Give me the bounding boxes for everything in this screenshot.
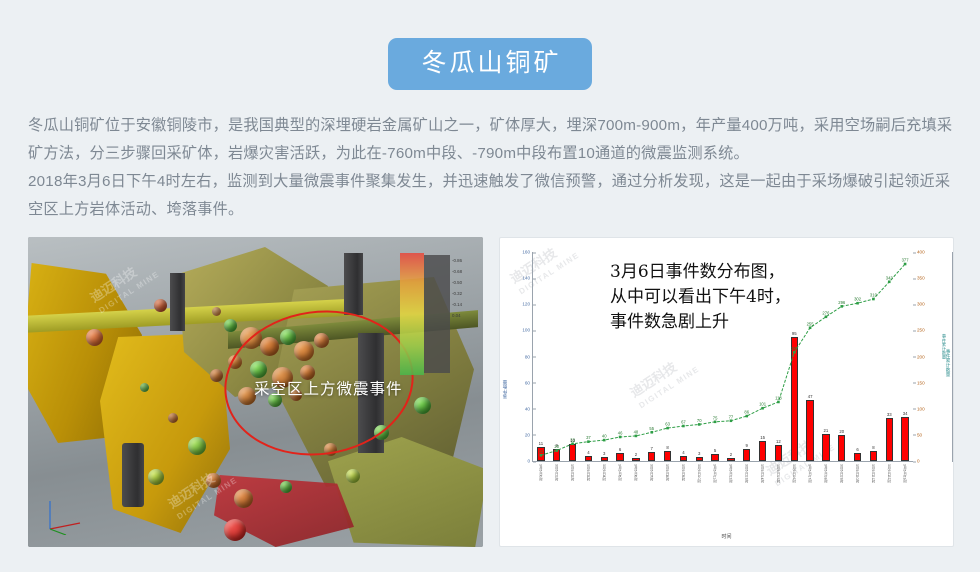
- x-axis-tick: 3月6日5时: [618, 464, 623, 481]
- x-axis-tick: 3月6日0时: [538, 464, 543, 481]
- y-axis-tick-right: 400: [913, 250, 925, 255]
- description-paragraph-2: 2018年3月6日下午4时左右，监测到大量微震事件聚集发生，并迅速触发了微信预警…: [28, 168, 954, 224]
- x-axis-tick: 3月6日12时: [728, 464, 733, 483]
- line-point: [698, 423, 701, 426]
- event-distribution-chart[interactable]: 迪迈科技 DIGITAL MINE 迪迈科技 DIGITAL MINE 迪迈科技…: [499, 237, 954, 547]
- event-sphere: [224, 319, 237, 332]
- page-header: 冬瓜山铜矿: [0, 0, 980, 90]
- line-point: [777, 401, 780, 404]
- line-point: [587, 440, 590, 443]
- line-point: [540, 454, 543, 457]
- x-axis-tick: 3月6日13时: [744, 464, 749, 483]
- x-axis-tick: 3月6日2时: [570, 464, 575, 481]
- chart-legend: 事件累计数量: [941, 334, 947, 359]
- line-point: [793, 351, 796, 354]
- line-point-label: 67: [681, 419, 686, 424]
- line-point: [872, 298, 875, 301]
- event-sphere: [206, 473, 221, 488]
- chart-annotation-line: 从中可以看出下午4时，: [610, 285, 791, 310]
- event-sphere: [154, 299, 167, 312]
- line-point: [619, 436, 622, 439]
- line-point-label: 343: [886, 275, 894, 280]
- line-point: [809, 326, 812, 329]
- line-point-label: 302: [854, 297, 862, 302]
- line-point-label: 11: [539, 449, 544, 454]
- y-axis-right-line: [952, 252, 953, 462]
- y-axis-tick-left: 140: [522, 276, 533, 281]
- y-axis-tick-left: 0: [527, 459, 533, 464]
- colorbar-tick: -0.32: [452, 288, 483, 299]
- line-point-label: 77: [729, 414, 734, 419]
- line-point-label: 377: [902, 258, 910, 263]
- y-axis-tick-right: 250: [913, 328, 925, 333]
- line-point-label: 20: [554, 444, 559, 449]
- line-point-label: 101: [759, 402, 767, 407]
- line-point-label: 63: [665, 422, 670, 427]
- event-sphere: [210, 369, 223, 382]
- y-axis-tick-left: 120: [522, 302, 533, 307]
- event-sphere: [280, 481, 292, 493]
- line-point: [761, 407, 764, 410]
- shaft-pillar-icon: [344, 253, 363, 315]
- chart-canvas: 迪迈科技 DIGITAL MINE 迪迈科技 DIGITAL MINE 迪迈科技…: [500, 238, 953, 546]
- line-point: [825, 315, 828, 318]
- x-axis-tick: 3月6日14时: [760, 464, 765, 483]
- event-sphere: [414, 397, 431, 414]
- line-point: [730, 419, 733, 422]
- line-point-label: 86: [744, 410, 749, 415]
- x-axis-tick: 3月6日10时: [697, 464, 702, 483]
- y-axis-tick-right: 100: [913, 406, 925, 411]
- x-axis-tick: 3月6日4时: [602, 464, 607, 481]
- line-point: [650, 431, 653, 434]
- x-axis-tick: 3月6日23时: [903, 464, 908, 483]
- line-point-label: 48: [634, 429, 639, 434]
- y-axis-tick-left: 100: [522, 328, 533, 333]
- x-axis-tick: 3月6日6时: [633, 464, 638, 481]
- x-axis-tick: 3月6日1时: [554, 464, 559, 481]
- line-point-label: 55: [649, 426, 654, 431]
- description-block: 冬瓜山铜矿位于安徽铜陵市，是我国典型的深埋硬岩金属矿山之一，矿体厚大，埋深700…: [28, 112, 954, 224]
- x-axis-tick: 3月6日8时: [665, 464, 670, 481]
- shaft-pillar-icon: [122, 443, 144, 507]
- line-point: [635, 435, 638, 438]
- event-sphere: [188, 437, 206, 455]
- event-sphere: [140, 383, 149, 392]
- y-axis-tick-left: 60: [525, 380, 533, 385]
- y-axis-label-left: 事件数量: [502, 380, 508, 398]
- description-paragraph-1: 冬瓜山铜矿位于安徽铜陵市，是我国典型的深埋硬岩金属矿山之一，矿体厚大，埋深700…: [28, 112, 954, 168]
- event-sphere: [212, 307, 221, 316]
- line-point: [888, 280, 891, 283]
- figure-row: -0.86 -0.68 -0.50 -0.32 -0.14 0.04 迪迈科技 …: [28, 237, 954, 547]
- colorbar-tick: -0.50: [452, 277, 483, 288]
- colorbar-shadow: [424, 255, 450, 373]
- line-point: [682, 425, 685, 428]
- magnitude-colorbar: [400, 253, 424, 375]
- y-axis-tick-left: 80: [525, 354, 533, 359]
- chart-annotation-line: 事件数急剧上升: [610, 310, 791, 335]
- event-sphere: [168, 413, 178, 423]
- y-axis-tick-right: 0: [913, 459, 920, 464]
- line-point: [840, 305, 843, 308]
- colorbar-tick: -0.14: [452, 299, 483, 310]
- page-title: 冬瓜山铜矿: [388, 38, 591, 90]
- event-sphere: [86, 329, 103, 346]
- event-sphere: [224, 519, 246, 541]
- chart-annotation: 3月6日事件数分布图， 从中可以看出下午4时， 事件数急剧上升: [610, 260, 791, 335]
- line-point-label: 296: [838, 300, 846, 305]
- colorbar-labels: -0.86 -0.68 -0.50 -0.32 -0.14 0.04: [452, 255, 483, 321]
- y-axis-tick-left: 160: [522, 250, 533, 255]
- line-point: [571, 442, 574, 445]
- chart-annotation-line: 3月6日事件数分布图，: [610, 260, 791, 285]
- x-axis-tick: 3月6日15时: [776, 464, 781, 483]
- line-point-label: 255: [807, 321, 815, 326]
- x-axis-tick: 3月6日19时: [839, 464, 844, 483]
- line-point: [603, 439, 606, 442]
- axis-gizmo-icon: [42, 495, 88, 535]
- event-sphere: [148, 469, 164, 485]
- x-axis-tick: 3月6日17时: [808, 464, 813, 483]
- x-axis-tick: 3月6日16时: [792, 464, 797, 483]
- colorbar-tick: -0.68: [452, 266, 483, 277]
- y-axis-tick-right: 350: [913, 276, 925, 281]
- y-axis-tick-left: 40: [525, 406, 533, 411]
- x-axis-tick: 3月6日11时: [713, 464, 718, 483]
- line-point: [666, 427, 669, 430]
- line-point-label: 310: [870, 293, 878, 298]
- line-point: [856, 302, 859, 305]
- colorbar-tick: 0.04: [452, 310, 483, 321]
- event-sphere: [234, 489, 253, 508]
- y-axis-tick-right: 300: [913, 302, 925, 307]
- y-axis-tick-right: 200: [913, 354, 925, 359]
- line-point-label: 33: [570, 437, 575, 442]
- line-point: [745, 415, 748, 418]
- x-axis-tick: 3月6日22时: [887, 464, 892, 483]
- colorbar-tick: -0.86: [452, 255, 483, 266]
- three-d-mine-visualization[interactable]: -0.86 -0.68 -0.50 -0.32 -0.14 0.04 迪迈科技 …: [28, 237, 483, 547]
- event-sphere: [346, 469, 360, 483]
- line-point-label: 113: [775, 395, 782, 400]
- line-point-label: 40: [602, 434, 607, 439]
- x-axis-tick: 3月6日18时: [823, 464, 828, 483]
- legend-item-cumulative: 事件累计数量: [942, 334, 947, 359]
- scene-caption: 采空区上方微震事件: [254, 377, 403, 399]
- line-point-label: 37: [586, 435, 591, 440]
- line-point: [904, 263, 907, 266]
- line-point-label: 70: [697, 418, 702, 423]
- x-axis-title: 时间: [721, 533, 731, 540]
- line-point-label: 208: [791, 346, 799, 351]
- x-axis-tick: 3月6日7时: [649, 464, 654, 481]
- line-point: [555, 449, 558, 452]
- shaft-pillar-icon: [170, 273, 185, 331]
- line-point-label: 75: [713, 415, 718, 420]
- x-axis-tick: 3月6日9时: [681, 464, 686, 481]
- line-point-label: 46: [618, 430, 623, 435]
- y-axis-tick-right: 150: [913, 380, 925, 385]
- y-axis-tick-right: 50: [913, 432, 922, 437]
- y-axis-tick-left: 20: [525, 432, 533, 437]
- x-axis-tick: 3月6日21时: [871, 464, 876, 483]
- line-point-label: 276: [822, 310, 830, 315]
- x-axis-tick: 3月6日3时: [586, 464, 591, 481]
- mine-model-render: -0.86 -0.68 -0.50 -0.32 -0.14 0.04 迪迈科技 …: [28, 237, 483, 547]
- x-axis-tick: 3月6日20时: [855, 464, 860, 483]
- line-point: [714, 421, 717, 424]
